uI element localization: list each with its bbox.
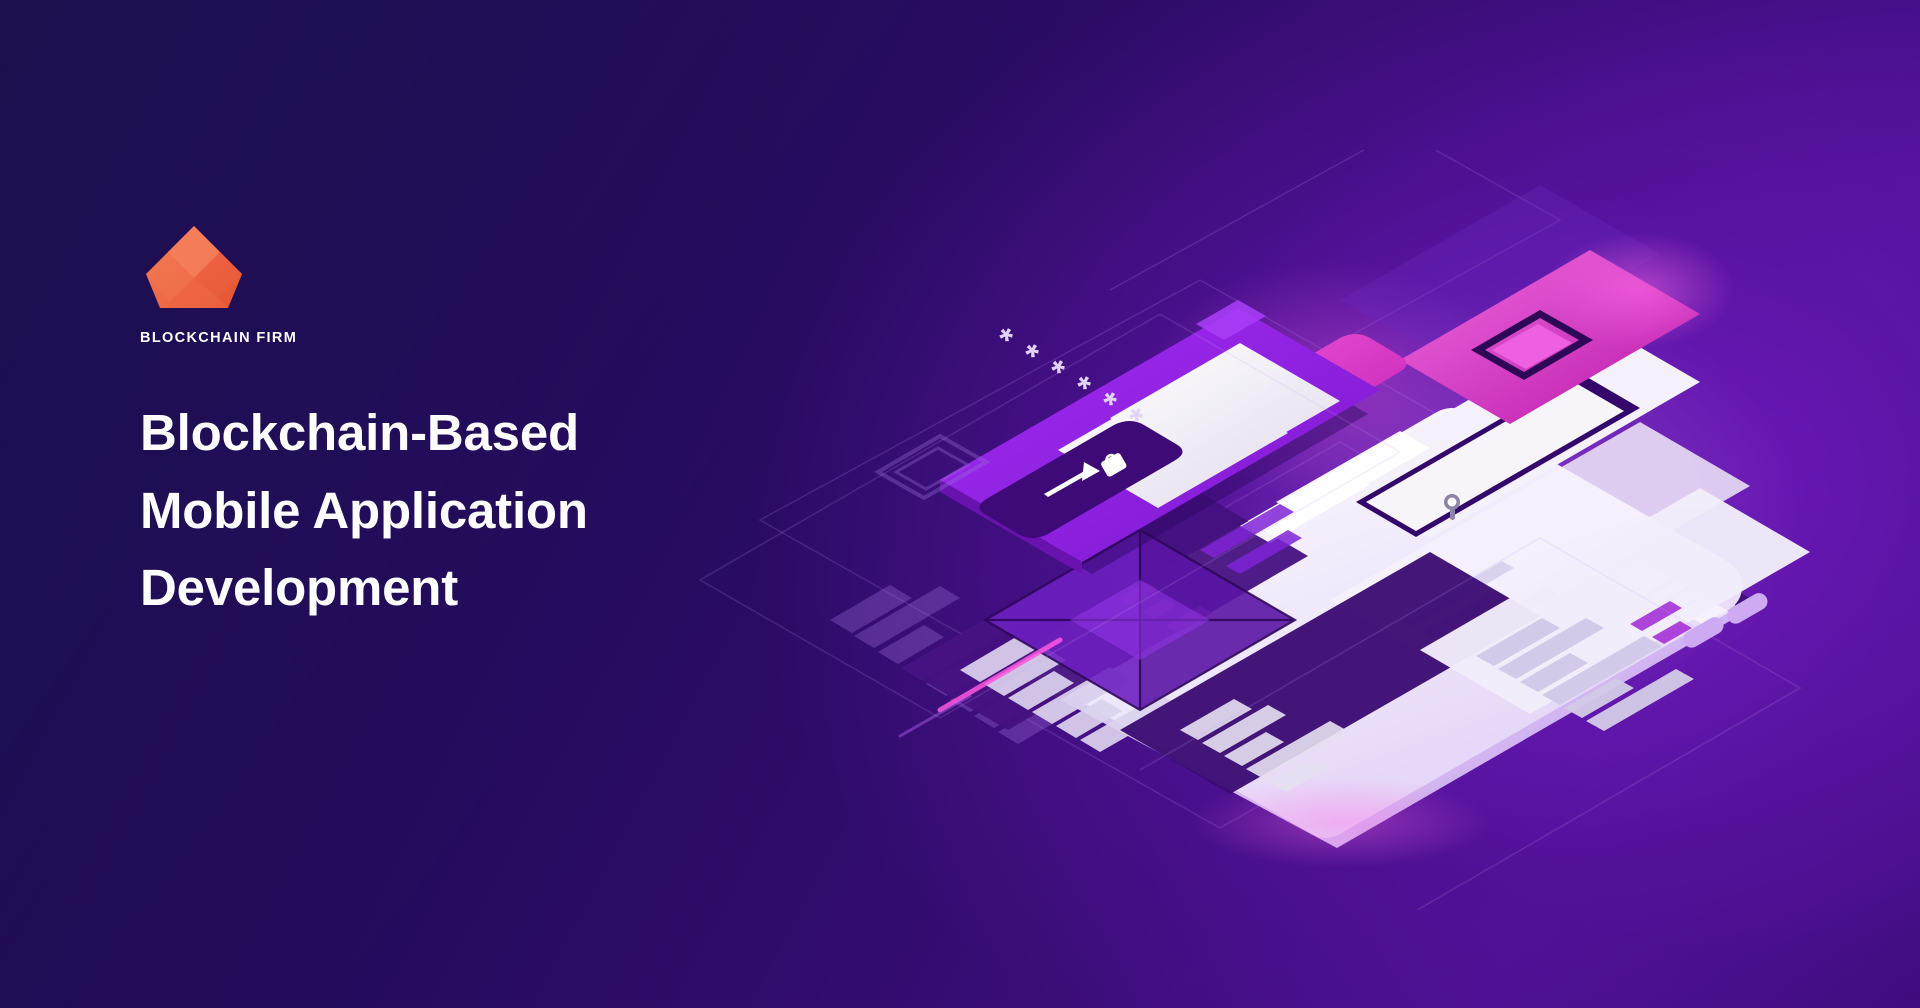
svg-text:*: * xyxy=(988,320,1019,360)
brand-name: BLOCKCHAIN FIRM xyxy=(140,330,252,346)
diamond-pentagon-logo-icon xyxy=(142,222,246,318)
isometric-illustration: * * * * * * xyxy=(640,150,1920,910)
hero-banner: BLOCKCHAIN FIRM Blockchain-Based Mobile … xyxy=(0,0,1920,1008)
svg-text:*: * xyxy=(1014,336,1045,376)
brand-logo[interactable]: BLOCKCHAIN FIRM xyxy=(140,222,252,346)
svg-text:*: * xyxy=(1040,352,1071,392)
